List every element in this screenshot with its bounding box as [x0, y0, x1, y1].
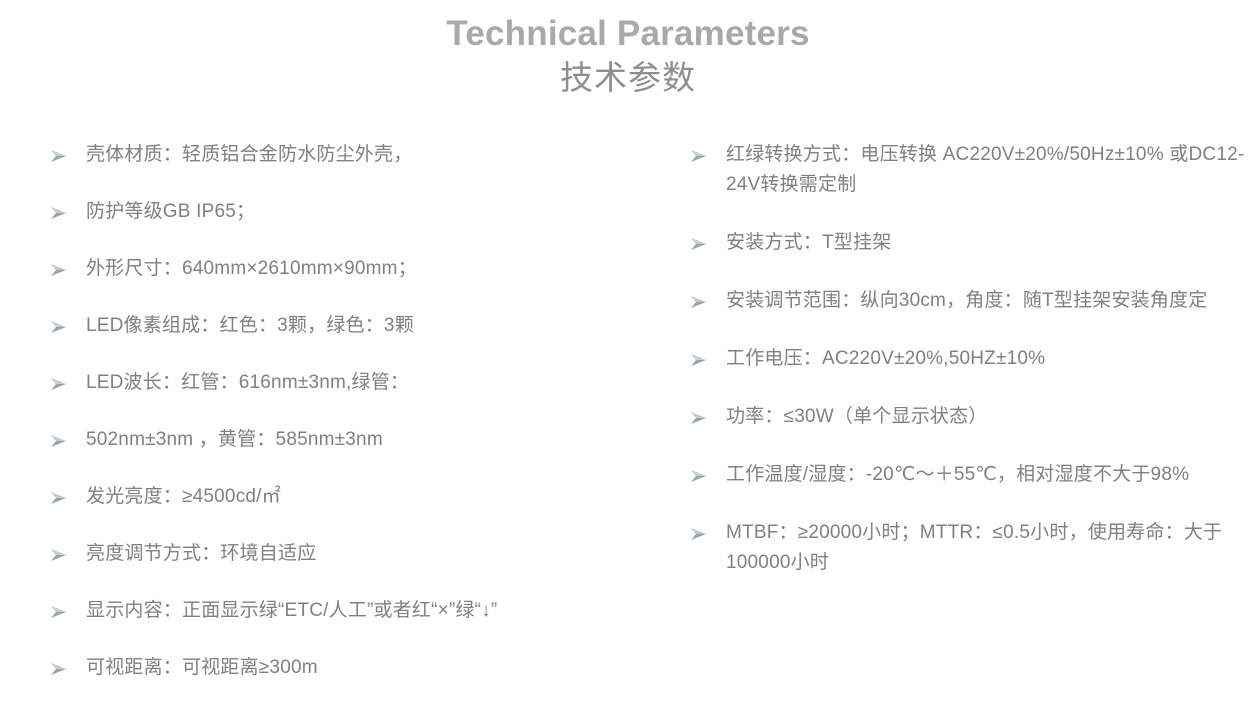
arrow-right-bullet-icon — [690, 469, 708, 483]
page-title-chinese: 技术参数 — [0, 56, 1256, 100]
spec-item-text: 可视距离：可视距离≥300m — [86, 653, 668, 683]
spec-list-item: 显示内容：正面显示绿“ETC/人工”或者红“×”绿“↓” — [48, 596, 668, 626]
spec-list-item: 亮度调节方式：环境自适应 — [48, 539, 668, 569]
spec-item-text: 壳体材质：轻质铝合金防水防尘外壳， — [86, 140, 668, 170]
arrow-right-bullet-icon — [50, 434, 68, 448]
spec-list-item: 外形尺寸：640mm×2610mm×90mm； — [48, 254, 668, 284]
spec-list-item: LED波长：红管：616nm±3nm,绿管： — [48, 368, 668, 398]
arrow-right-bullet-icon — [50, 149, 68, 163]
spec-item-text: 安装方式：T型挂架 — [726, 228, 1248, 258]
spec-list-item: MTBF：≥20000小时；MTTR：≤0.5小时，使用寿命：大于100000小… — [688, 518, 1248, 578]
spec-item-text: MTBF：≥20000小时；MTTR：≤0.5小时，使用寿命：大于100000小… — [726, 518, 1248, 578]
spec-list-item: 安装调节范围：纵向30cm，角度：随T型挂架安装角度定 — [688, 286, 1248, 316]
spec-list-item: 红绿转换方式：电压转换 AC220V±20%/50Hz±10% 或DC12-24… — [688, 140, 1248, 200]
spec-list-item: 502nm±3nm ，黄管：585nm±3nm — [48, 425, 668, 455]
spec-list-item: 安装方式：T型挂架 — [688, 228, 1248, 258]
arrow-right-bullet-icon — [50, 206, 68, 220]
arrow-right-bullet-icon — [690, 527, 708, 541]
arrow-right-bullet-icon — [50, 548, 68, 562]
arrow-right-bullet-icon — [50, 320, 68, 334]
page-title-english: Technical Parameters — [0, 12, 1256, 56]
spec-column-right: 红绿转换方式：电压转换 AC220V±20%/50Hz±10% 或DC12-24… — [688, 140, 1248, 606]
technical-parameters-page: Technical Parameters 技术参数 壳体材质：轻质铝合金防水防尘… — [0, 0, 1256, 702]
spec-item-text: 功率：≤30W（单个显示状态） — [726, 402, 1248, 432]
arrow-right-bullet-icon — [50, 263, 68, 277]
spec-list-item: 工作温度/湿度：-20℃～＋55℃，相对湿度不大于98% — [688, 460, 1248, 490]
arrow-right-bullet-icon — [690, 237, 708, 251]
spec-item-text: 防护等级GB IP65； — [86, 197, 668, 227]
spec-item-text: 发光亮度：≥4500cd/㎡ — [86, 482, 668, 512]
arrow-right-bullet-icon — [50, 491, 68, 505]
spec-item-text: 亮度调节方式：环境自适应 — [86, 539, 668, 569]
arrow-right-bullet-icon — [690, 353, 708, 367]
spec-list-item: 工作电压：AC220V±20%,50HZ±10% — [688, 344, 1248, 374]
spec-item-text: 工作电压：AC220V±20%,50HZ±10% — [726, 344, 1248, 374]
spec-item-text: 安装调节范围：纵向30cm，角度：随T型挂架安装角度定 — [726, 286, 1248, 316]
arrow-right-bullet-icon — [690, 149, 708, 163]
spec-list-item: 可视距离：可视距离≥300m — [48, 653, 668, 683]
spec-item-text: 红绿转换方式：电压转换 AC220V±20%/50Hz±10% 或DC12-24… — [726, 140, 1248, 200]
spec-item-text: 502nm±3nm ，黄管：585nm±3nm — [86, 425, 668, 455]
arrow-right-bullet-icon — [50, 605, 68, 619]
spec-list-item: 功率：≤30W（单个显示状态） — [688, 402, 1248, 432]
spec-item-text: 工作温度/湿度：-20℃～＋55℃，相对湿度不大于98% — [726, 460, 1248, 490]
spec-item-text: LED波长：红管：616nm±3nm,绿管： — [86, 368, 668, 398]
arrow-right-bullet-icon — [690, 295, 708, 309]
spec-column-left: 壳体材质：轻质铝合金防水防尘外壳， 防护等级GB IP65； — [48, 140, 668, 710]
spec-item-text: 外形尺寸：640mm×2610mm×90mm； — [86, 254, 668, 284]
spec-list-item: 壳体材质：轻质铝合金防水防尘外壳， — [48, 140, 668, 170]
spec-list-item: 发光亮度：≥4500cd/㎡ — [48, 482, 668, 512]
arrow-right-bullet-icon — [690, 411, 708, 425]
spec-list-item: LED像素组成：红色：3颗，绿色：3颗 — [48, 311, 668, 341]
arrow-right-bullet-icon — [50, 662, 68, 676]
page-heading: Technical Parameters 技术参数 — [0, 12, 1256, 100]
spec-item-text: 显示内容：正面显示绿“ETC/人工”或者红“×”绿“↓” — [86, 596, 668, 626]
spec-item-text: LED像素组成：红色：3颗，绿色：3颗 — [86, 311, 668, 341]
spec-list-item: 防护等级GB IP65； — [48, 197, 668, 227]
arrow-right-bullet-icon — [50, 377, 68, 391]
